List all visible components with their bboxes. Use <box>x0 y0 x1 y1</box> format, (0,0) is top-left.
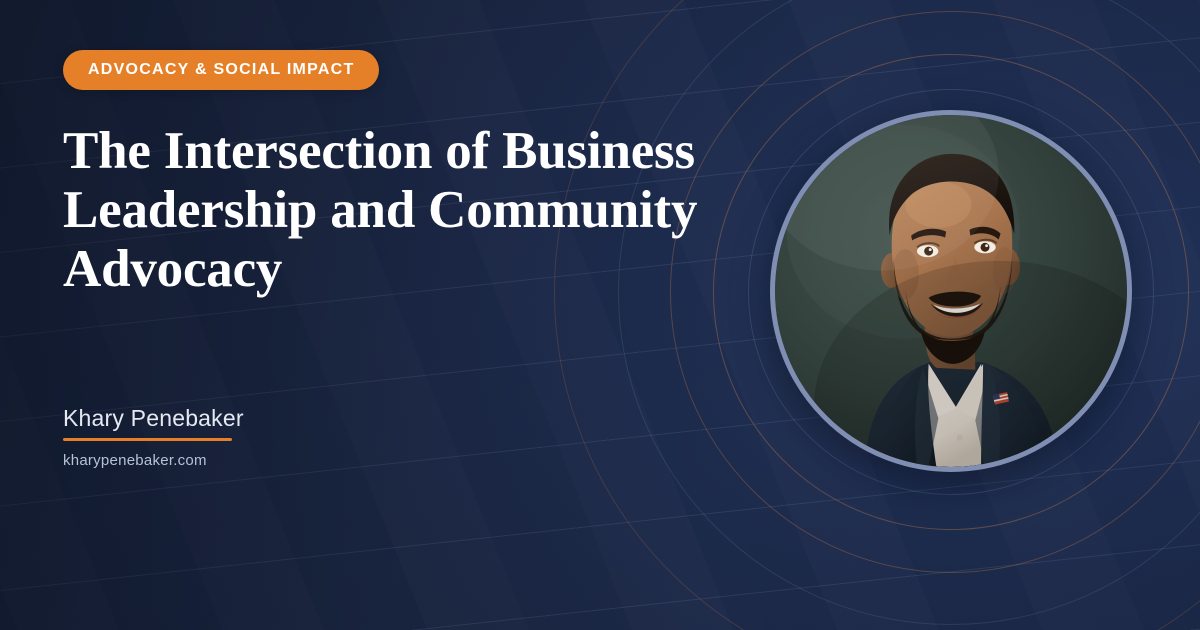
site-url: kharypenebaker.com <box>63 452 483 469</box>
content-column: ADVOCACY & SOCIAL IMPACT The Intersectio… <box>63 0 763 630</box>
social-share-card: ADVOCACY & SOCIAL IMPACT The Intersectio… <box>0 0 1200 630</box>
author-portrait <box>770 110 1132 472</box>
page-title: The Intersection of Business Leadership … <box>63 122 703 299</box>
author-name: Khary Penebaker <box>63 404 483 432</box>
category-badge[interactable]: ADVOCACY & SOCIAL IMPACT <box>63 50 379 90</box>
author-underline-rule <box>63 438 232 441</box>
portrait-illustration <box>775 115 1127 467</box>
byline: Khary Penebaker kharypenebaker.com <box>63 404 483 469</box>
portrait-photo <box>775 115 1127 467</box>
